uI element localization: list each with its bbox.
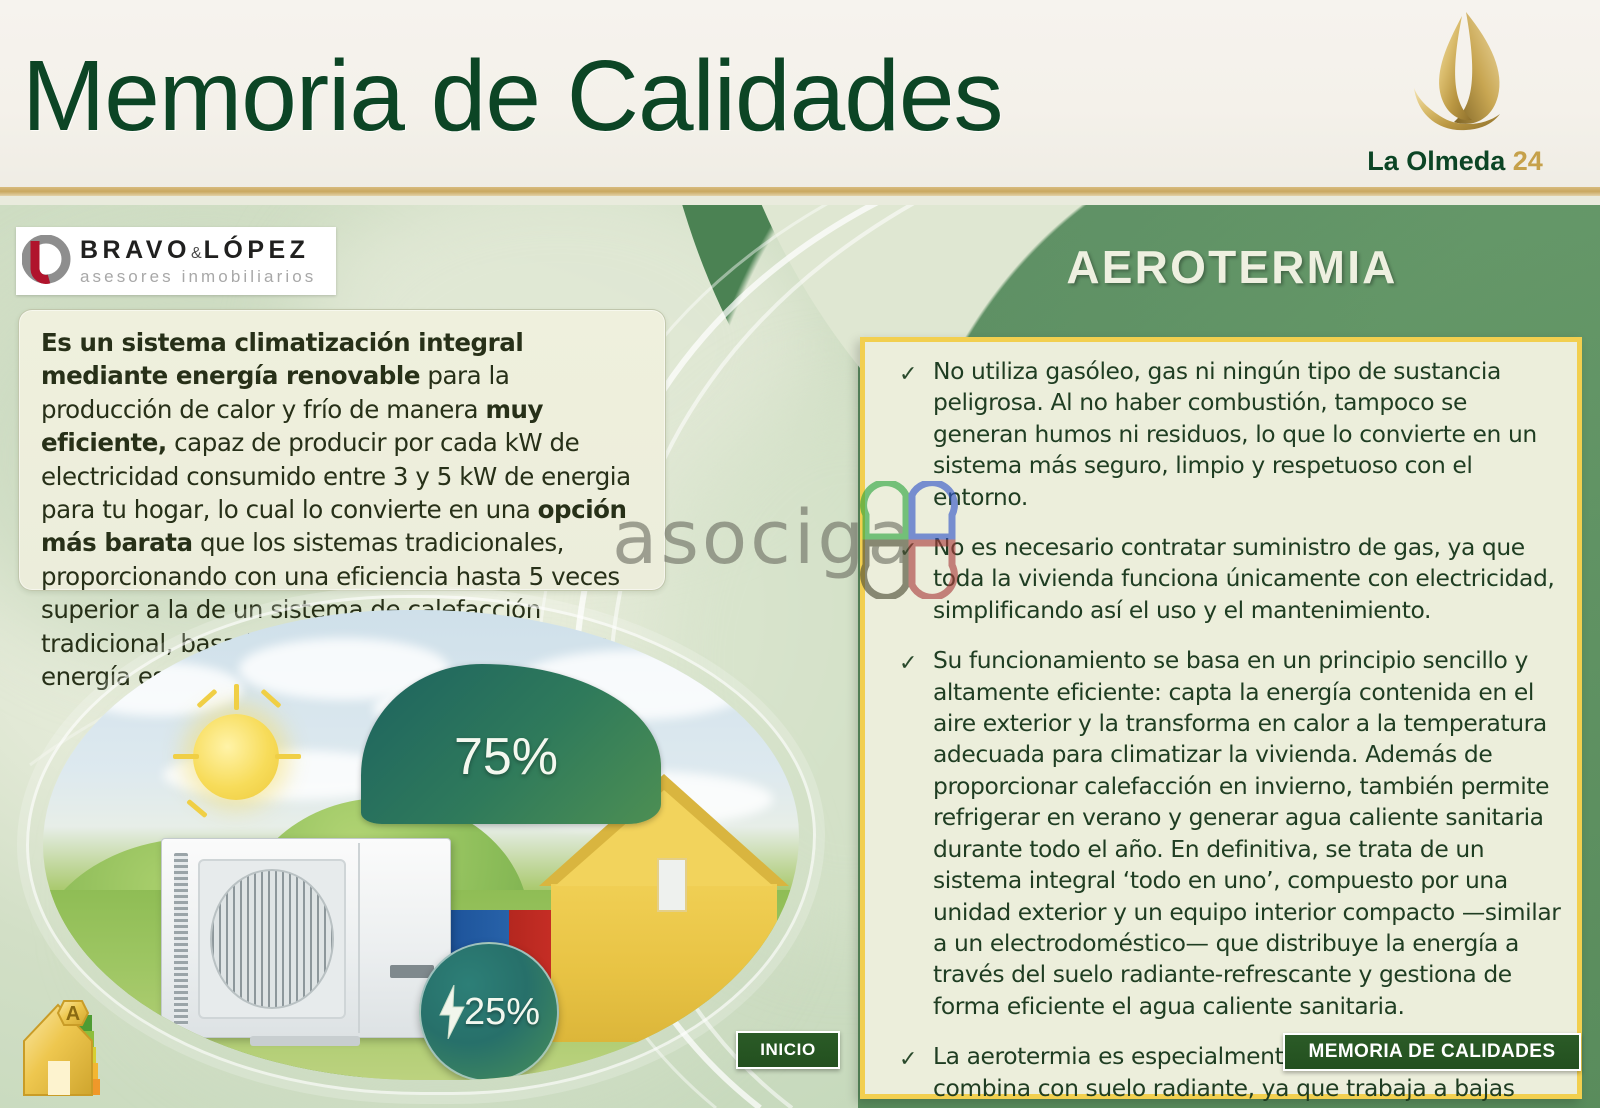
aerothermal-illustration: 75% 25% (26, 595, 816, 1095)
electric-share-value: 25% (464, 991, 540, 1034)
heat-pump-fan (198, 859, 346, 1019)
sun-ray (173, 754, 199, 759)
agency-logo: BRAVO&LÓPEZ asesores inmobiliarios (16, 227, 336, 295)
illustration-frame: 75% 25% (26, 595, 816, 1095)
page-title: Memoria de Calidades (22, 46, 1003, 146)
check-mark-icon: ✓ (899, 359, 917, 390)
feature-item: ✓Su funcionamiento se basa en un princip… (883, 645, 1563, 1022)
section-title: AEROTERMIA (882, 235, 1582, 299)
illustration-canvas: 75% 25% (43, 610, 799, 1080)
brand-suffix: 24 (1513, 146, 1543, 176)
heat-pump-base (250, 1036, 360, 1046)
house-window (657, 858, 687, 912)
svg-text:A: A (66, 1003, 80, 1025)
electric-share-badge: 25% (419, 942, 559, 1080)
outdoor-heat-pump-unit-icon (161, 838, 451, 1038)
slide-header: Memoria de Calidades (0, 0, 1600, 196)
heat-pump-panel-seam (358, 843, 360, 1033)
agency-name: BRAVO&LÓPEZ (80, 237, 316, 267)
agency-name-ampersand: & (191, 245, 204, 262)
check-mark-icon: ✓ (899, 1044, 917, 1075)
nav-button-memoria-de-calidades[interactable]: MEMORIA DE CALIDADES (1283, 1033, 1581, 1071)
agency-wordmark: BRAVO&LÓPEZ asesores inmobiliarios (80, 237, 316, 286)
slide-body: BRAVO&LÓPEZ asesores inmobiliarios Es un… (0, 205, 1600, 1108)
features-list: ✓No utiliza gasóleo, gas ni ningún tipo … (883, 356, 1563, 1108)
sun-ray (186, 799, 208, 818)
feature-item-text: No utiliza gasóleo, gas ni ningún tipo d… (933, 357, 1537, 511)
intro-text-card: Es un sistema climatización integral med… (18, 309, 666, 591)
check-mark-icon: ✓ (899, 535, 917, 566)
slide-root: Memoria de Calidades (0, 0, 1600, 1108)
lightning-bolt-icon (438, 985, 466, 1039)
bravo-lopez-b-monogram-icon (22, 235, 74, 287)
nav-button-memoria-label: MEMORIA DE CALIDADES (1309, 1041, 1556, 1063)
feature-item: ✓No utiliza gasóleo, gas ni ningún tipo … (883, 356, 1563, 513)
nav-button-inicio-label: INICIO (760, 1040, 816, 1060)
feature-item-text: No es necesario contratar suministro de … (933, 533, 1554, 624)
sun-ray (234, 684, 239, 710)
feature-item: ✓No es necesario contratar suministro de… (883, 532, 1563, 626)
renewable-share-value: 75% (454, 727, 558, 787)
heat-pump-grill (174, 853, 188, 1025)
agency-tagline: asesores inmobiliarios (80, 267, 316, 286)
feature-item-text: Su funcionamiento se basa en un principi… (933, 646, 1560, 1019)
gold-leaf-flame-icon (1380, 6, 1530, 146)
sun-ray (275, 754, 301, 759)
features-panel: ✓No utiliza gasóleo, gas ni ningún tipo … (860, 337, 1582, 1099)
agency-name-part2: LÓPEZ (204, 236, 310, 264)
nav-button-inicio[interactable]: INICIO (736, 1031, 840, 1069)
brand-name: La Olmeda (1367, 146, 1505, 176)
check-mark-icon: ✓ (899, 648, 917, 679)
sun-icon (193, 714, 279, 800)
cloud-shape (73, 662, 243, 716)
section-title-label: AEROTERMIA (1066, 240, 1397, 294)
brand-logo: La Olmeda 24 (1350, 6, 1560, 191)
energy-rating-a-house-icon: A (18, 983, 138, 1103)
brand-wordmark: La Olmeda 24 (1350, 146, 1560, 177)
agency-name-part1: BRAVO (80, 236, 191, 264)
